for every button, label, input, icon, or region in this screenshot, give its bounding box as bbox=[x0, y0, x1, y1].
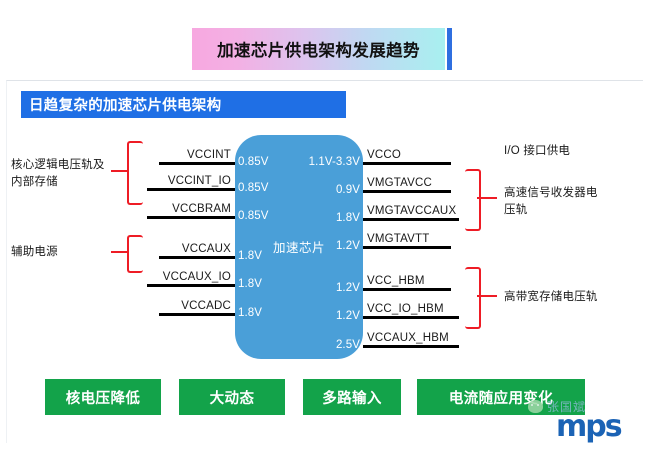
rail-vcc-hbm: VCC_HBM 1.2V bbox=[363, 269, 451, 291]
rail-line bbox=[147, 284, 235, 287]
rail-line bbox=[363, 345, 459, 348]
rail-voltage: 0.9V bbox=[336, 184, 360, 196]
rail-line bbox=[147, 216, 235, 219]
rail-vccadc: VCCADC 1.8V bbox=[159, 294, 235, 316]
group-label-line1: 高速信号收发器电 bbox=[504, 187, 598, 199]
rail-voltage: 1.8V bbox=[238, 307, 262, 319]
rail-line bbox=[159, 162, 235, 165]
rail-name: VCC_HBM bbox=[367, 275, 425, 287]
bracket-stem-aux-power bbox=[111, 251, 129, 253]
group-label-line1: 辅助电源 bbox=[11, 246, 58, 258]
group-label-io-power: I/O 接口供电 bbox=[504, 143, 634, 160]
mps-logo: mps bbox=[556, 412, 621, 442]
bracket-stem-transceiver bbox=[477, 197, 497, 199]
rail-vccbram: VCCBRAM 0.85V bbox=[147, 197, 235, 219]
feature-box-core-voltage: 核电压降低 bbox=[45, 379, 161, 415]
rail-line bbox=[363, 218, 459, 221]
rail-vccaux-hbm: VCCAUX_HBM 2.5V bbox=[363, 326, 459, 348]
group-label-line1: I/O 接口供电 bbox=[504, 145, 570, 157]
rail-vmgtavtt: VMGTAVTT 1.2V bbox=[363, 227, 451, 249]
rail-vccint-io: VCCINT_IO 0.85V bbox=[147, 169, 235, 191]
rail-name: VCCAUX_IO bbox=[163, 271, 231, 283]
rail-name: VCCAUX bbox=[182, 243, 231, 255]
group-label-line1: 高带宽存储电压轨 bbox=[504, 291, 598, 303]
rail-vccint: VCCINT 0.85V bbox=[159, 143, 235, 165]
rail-name: VCC_IO_HBM bbox=[367, 303, 444, 315]
rail-line bbox=[159, 313, 235, 316]
rail-voltage: 1.1V-3.3V bbox=[309, 156, 360, 168]
rail-vccaux: VCCAUX 1.8V bbox=[159, 237, 235, 259]
rail-name: VMGTAVCCAUX bbox=[367, 205, 456, 217]
group-label-hbm: 高带宽存储电压轨 bbox=[504, 289, 639, 306]
rail-voltage: 0.85V bbox=[238, 156, 269, 168]
rail-name: VCCO bbox=[367, 149, 401, 161]
bracket-aux-power bbox=[127, 235, 143, 273]
rail-voltage: 0.85V bbox=[238, 210, 269, 222]
group-label-line2: 内部存储 bbox=[11, 176, 58, 188]
group-label-line1: 核心逻辑电压轨及 bbox=[11, 159, 105, 171]
group-label-aux-power: 辅助电源 bbox=[11, 244, 111, 261]
rail-voltage: 1.2V bbox=[336, 240, 360, 252]
feature-label: 大动态 bbox=[210, 387, 255, 408]
bracket-hbm bbox=[465, 267, 481, 329]
rail-voltage: 2.5V bbox=[336, 339, 360, 351]
bracket-stem-core-logic bbox=[111, 170, 129, 172]
rail-voltage: 1.8V bbox=[238, 278, 262, 290]
rail-name: VMGTAVTT bbox=[367, 233, 430, 245]
rail-vccaux-io: VCCAUX_IO 1.8V bbox=[147, 265, 235, 287]
feature-label: 核电压降低 bbox=[66, 387, 141, 408]
group-label-transceiver: 高速信号收发器电 压轨 bbox=[504, 185, 639, 220]
rail-vmgtavcc: VMGTAVCC 0.9V bbox=[363, 171, 451, 193]
wechat-icon bbox=[528, 400, 543, 413]
rail-voltage: 1.8V bbox=[336, 212, 360, 224]
rail-voltage: 0.85V bbox=[238, 182, 269, 194]
rail-line bbox=[147, 188, 235, 191]
rail-name: VMGTAVCC bbox=[367, 177, 432, 189]
rail-name: VCCBRAM bbox=[172, 203, 231, 215]
rail-vcc-io-hbm: VCC_IO_HBM 1.2V bbox=[363, 297, 459, 319]
section-subtitle: 日趋复杂的加速芯片供电架构 bbox=[29, 94, 221, 115]
bracket-core-logic bbox=[127, 141, 143, 205]
diagram-content-frame: 日趋复杂的加速芯片供电架构 加速芯片 VCCINT 0.85V VCCINT_I… bbox=[6, 80, 643, 443]
rail-line bbox=[363, 162, 451, 165]
page-title-banner: 加速芯片供电架构发展趋势 bbox=[192, 28, 445, 70]
rail-name: VCCINT bbox=[187, 149, 231, 161]
rail-line bbox=[363, 316, 459, 319]
rail-line bbox=[363, 190, 451, 193]
rail-name: VCCINT_IO bbox=[168, 175, 231, 187]
rail-vcco: VCCO 1.1V-3.3V bbox=[363, 143, 451, 165]
rail-name: VCCAUX_HBM bbox=[367, 332, 449, 344]
rail-name: VCCADC bbox=[181, 300, 231, 312]
feature-box-dynamic-range: 大动态 bbox=[179, 379, 285, 415]
group-label-line2: 压轨 bbox=[504, 204, 527, 216]
bracket-stem-hbm bbox=[477, 295, 497, 297]
rail-line bbox=[159, 256, 235, 259]
section-subtitle-banner: 日趋复杂的加速芯片供电架构 bbox=[21, 91, 346, 118]
rail-voltage: 1.2V bbox=[336, 310, 360, 322]
title-accent-bar bbox=[447, 28, 452, 70]
rail-line bbox=[363, 246, 451, 249]
page-title: 加速芯片供电架构发展趋势 bbox=[217, 37, 420, 61]
feature-box-multi-input: 多路输入 bbox=[303, 379, 401, 415]
rail-line bbox=[363, 288, 451, 291]
rail-voltage: 1.2V bbox=[336, 282, 360, 294]
rail-vmgtavccaux: VMGTAVCCAUX 1.8V bbox=[363, 199, 459, 221]
bracket-transceiver bbox=[465, 169, 481, 231]
group-label-core-logic: 核心逻辑电压轨及 内部存储 bbox=[11, 157, 111, 192]
rail-voltage: 1.8V bbox=[238, 250, 262, 262]
feature-label: 多路输入 bbox=[322, 387, 382, 408]
